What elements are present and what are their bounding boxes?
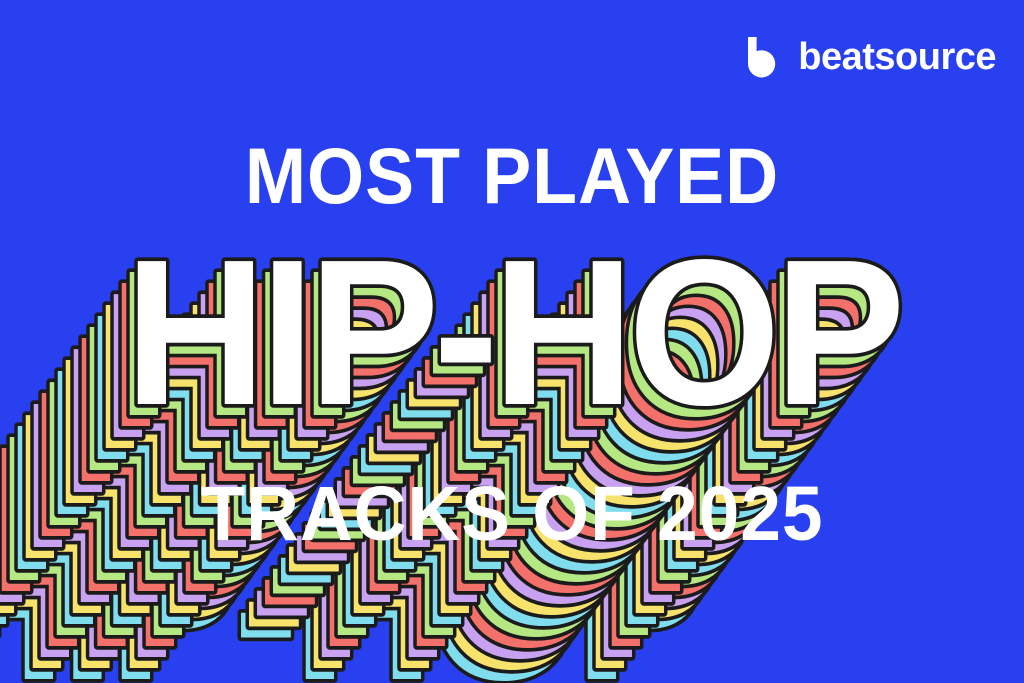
word-face: HIP-HOP	[125, 216, 900, 448]
svg-text:HIP-HOP: HIP-HOP	[125, 216, 900, 448]
feature-word-svg: HIP-HOPHIP-HOPHIP-HOPHIP-HOPHIP-HOPHIP-H…	[0, 222, 1024, 472]
feature-word-hip-hop: HIP-HOPHIP-HOPHIP-HOPHIP-HOPHIP-HOPHIP-H…	[0, 222, 1024, 472]
beatsource-wordmark: beatsource	[798, 38, 996, 76]
headline-line-top: MOST PLAYED	[36, 136, 988, 215]
beatsource-b-mark-icon	[738, 34, 784, 80]
brand-lockup: beatsource	[738, 34, 996, 80]
headline-line-bottom: TRACKS OF 2025	[26, 476, 999, 553]
poster-canvas: beatsource MOST PLAYED HIP-HOPHIP-HOPHIP…	[0, 0, 1024, 683]
